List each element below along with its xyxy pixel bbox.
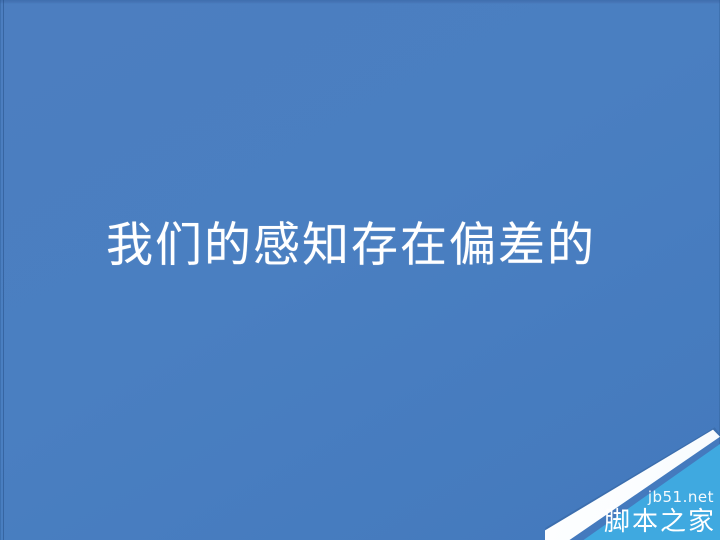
presentation-slide: 我们的感知存在偏差的 jb51.net 脚本之家	[0, 0, 720, 540]
watermark-site-name: 脚本之家	[604, 501, 716, 538]
slide-headline-text: 我们的感知存在偏差的	[106, 220, 596, 272]
watermark-corner: jb51.net 脚本之家	[545, 420, 720, 540]
